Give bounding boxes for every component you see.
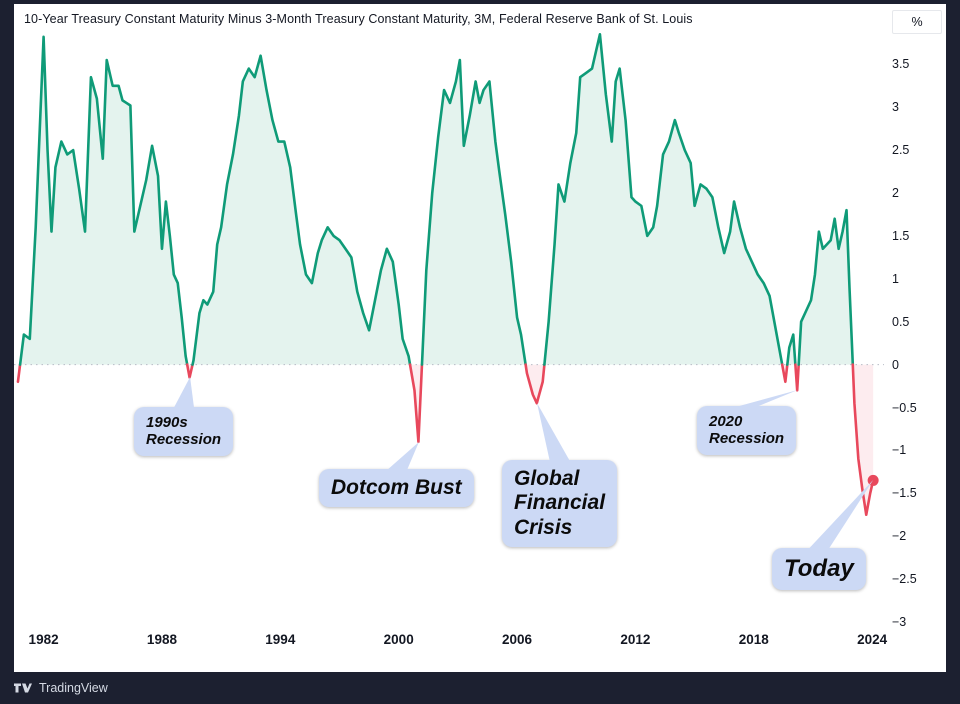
annotation-tail-recession-1990s	[170, 373, 204, 411]
price-tick: 2	[892, 186, 899, 200]
annotation-today[interactable]: Today	[772, 548, 866, 590]
chart-panel: 10-Year Treasury Constant Maturity Minus…	[14, 4, 946, 672]
price-tick: −2.5	[892, 572, 917, 586]
price-tick: 1.5	[892, 229, 909, 243]
footer-bar: TradingView	[0, 672, 960, 704]
annotation-recession-1990s[interactable]: 1990s Recession	[134, 407, 233, 456]
tradingview-wordmark: TradingView	[39, 681, 108, 695]
price-tick: 3	[892, 100, 899, 114]
positive-area-fill	[799, 210, 853, 364]
time-tick: 2006	[502, 632, 532, 647]
price-tick: 2.5	[892, 143, 909, 157]
price-tick: −0.5	[892, 401, 917, 415]
annotation-recession-2020[interactable]: 2020 Recession	[697, 406, 796, 455]
price-tick: −1.5	[892, 486, 917, 500]
price-tick: 3.5	[892, 57, 909, 71]
annotation-tail-recession-2020	[733, 386, 812, 410]
price-tick: −2	[892, 529, 906, 543]
price-tick: 0.5	[892, 315, 909, 329]
time-tick: 1982	[29, 632, 59, 647]
unit-badge: %	[892, 10, 942, 34]
annotation-dotcom-bust[interactable]: Dotcom Bust	[319, 469, 474, 507]
positive-area-fill	[193, 56, 411, 365]
positive-area-fill	[422, 60, 526, 365]
annotation-tail-global-financial-crisis	[523, 399, 574, 464]
chart-title: 10-Year Treasury Constant Maturity Minus…	[24, 12, 693, 26]
price-tick: −1	[892, 443, 906, 457]
price-tick: 0	[892, 358, 899, 372]
time-tick: 2024	[857, 632, 887, 647]
time-tick: 1994	[265, 632, 295, 647]
price-tick: 1	[892, 272, 899, 286]
time-tick: 2000	[384, 632, 414, 647]
tradingview-logo-icon	[14, 682, 32, 694]
time-tick: 2012	[620, 632, 650, 647]
time-scale[interactable]: 19821988199420002006201220182024	[14, 632, 884, 658]
series-svg	[14, 30, 884, 622]
annotation-tail-dotcom-bust	[383, 438, 433, 473]
annotation-global-financial-crisis[interactable]: Global Financial Crisis	[502, 460, 617, 547]
chart-window: 10-Year Treasury Constant Maturity Minus…	[0, 0, 960, 704]
time-tick: 2018	[739, 632, 769, 647]
price-tick: −3	[892, 615, 906, 629]
price-scale[interactable]: % 3.532.521.510.50−0.5−1−1.5−2−2.5−3	[884, 4, 946, 644]
annotation-tail-today	[805, 476, 887, 552]
time-tick: 1988	[147, 632, 177, 647]
plot-area[interactable]	[14, 30, 884, 622]
